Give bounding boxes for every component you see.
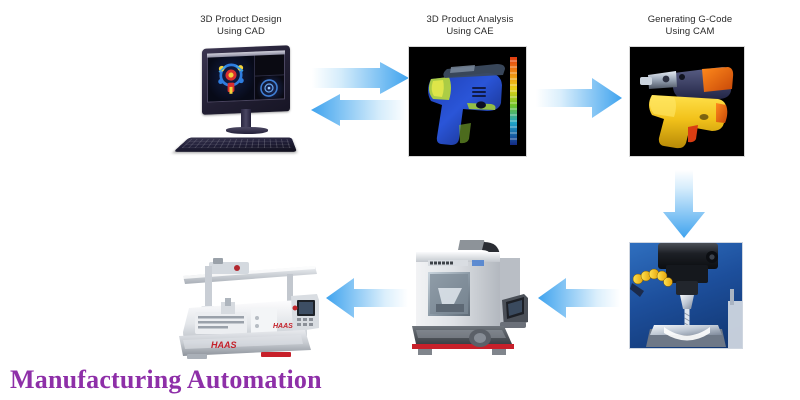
monitor-body [202, 45, 290, 115]
fea-drill-graphic [409, 47, 526, 156]
arrow-machining-vmc-left [536, 274, 622, 322]
cnc-lathe-image: HAAS HAAS [165, 252, 325, 364]
cam-drill-image [630, 47, 744, 156]
arrow-cam-machining-down [660, 168, 708, 240]
keyboard-keys [182, 139, 292, 148]
cnc-machining-center-image [408, 238, 536, 358]
keyboard [173, 138, 297, 152]
vmc-graphic [408, 238, 536, 358]
diagram-canvas: 3D Product DesignUsing CAD [0, 0, 800, 400]
page-title: Manufacturing Automation [10, 365, 322, 395]
machining-closeup-image [630, 243, 742, 348]
arrow-cad-cae-bidirectional [308, 62, 412, 130]
node-cad-label: 3D Product DesignUsing CAD [162, 14, 320, 37]
fea-color-legend [510, 57, 517, 145]
cad-model-icon [214, 59, 248, 94]
cad-viewport-bottom [255, 75, 284, 99]
lathe-graphic: HAAS HAAS [165, 252, 325, 364]
cae-fea-image [409, 47, 526, 156]
cad-round-part-icon [259, 77, 279, 98]
node-cam-label: Generating G-CodeUsing CAM [620, 14, 760, 37]
cad-viewport-main [208, 53, 255, 102]
arrow-vmc-lathe-left [324, 274, 410, 322]
monitor-stand-base [226, 127, 268, 134]
cnc-milling-graphic [630, 243, 742, 348]
monitor-screen [207, 50, 285, 102]
monitor-stand-neck [241, 109, 251, 129]
cad-viewport-side [255, 51, 284, 99]
lathe-brand-text-secondary: HAAS [273, 323, 293, 330]
cad-computer-image [182, 47, 300, 157]
lathe-brand-text: HAAS [211, 340, 237, 350]
yellow-drill-graphic [630, 47, 744, 156]
node-cae-label: 3D Product AnalysisUsing CAE [400, 14, 540, 37]
arrow-cae-cam-right [534, 74, 624, 122]
